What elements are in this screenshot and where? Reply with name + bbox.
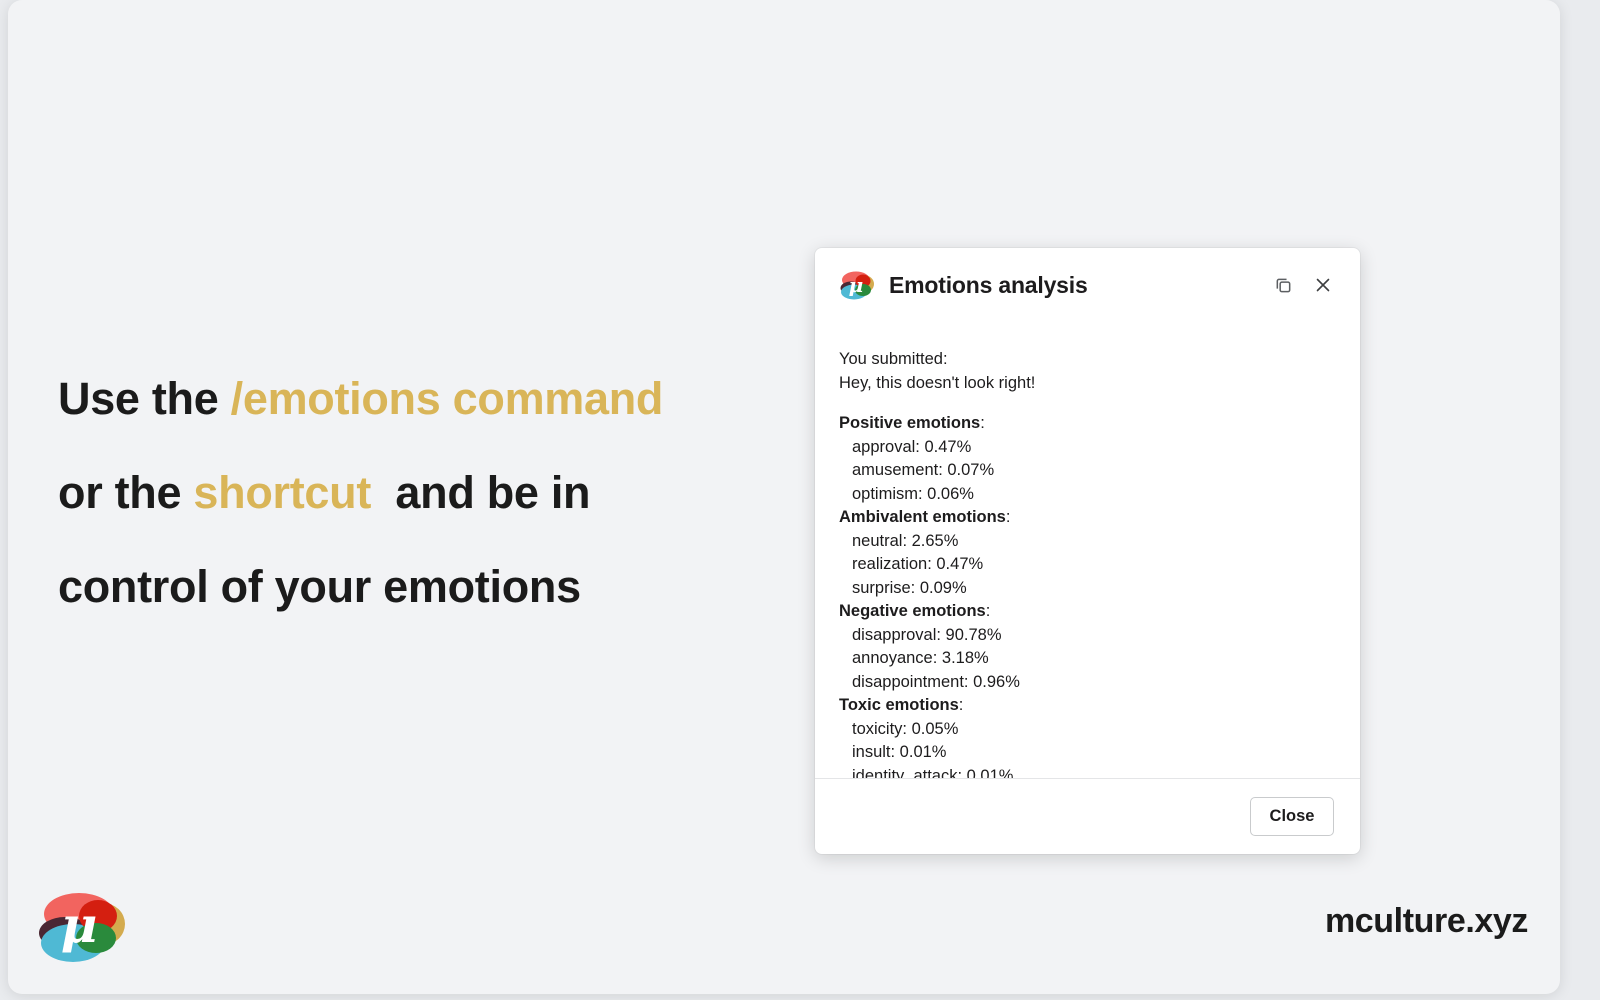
- svg-text:μ: μ: [849, 273, 864, 297]
- mculture-app-icon: μ: [839, 267, 875, 303]
- emotion-item: optimism: 0.06%: [839, 483, 1336, 507]
- emotion-item: identity_attack: 0.01%: [839, 765, 1336, 779]
- emotion-group: Negative emotions:disapproval: 90.78%ann…: [839, 600, 1336, 694]
- dialog-title: Emotions analysis: [889, 272, 1268, 299]
- headline-line-3: control of your emotions: [58, 540, 718, 634]
- emotion-item: amusement: 0.07%: [839, 459, 1336, 483]
- dialog-body: You submitted: Hey, this doesn't look ri…: [815, 322, 1360, 778]
- site-name: mculture.xyz: [1325, 902, 1528, 941]
- headline-text-2-1: or the: [58, 467, 193, 518]
- dialog-header: μ Emotions analysis: [815, 248, 1360, 322]
- headline-accent-2-2: shortcut: [193, 467, 371, 518]
- emotion-group-title: Toxic emotions:: [839, 694, 1336, 718]
- headline-line-2: or the shortcut and be in: [58, 446, 718, 540]
- emotion-item: insult: 0.01%: [839, 741, 1336, 765]
- dialog-footer: Close: [815, 778, 1360, 854]
- headline-text-2-3: and be in: [371, 467, 590, 518]
- submitted-label: You submitted:: [839, 348, 1336, 372]
- svg-text:μ: μ: [61, 895, 98, 954]
- submitted-text: Hey, this doesn't look right!: [839, 372, 1336, 396]
- emotion-item: realization: 0.47%: [839, 553, 1336, 577]
- emotion-item: approval: 0.47%: [839, 436, 1336, 460]
- headline-accent-1-2: /emotions command: [231, 373, 663, 424]
- slide-canvas: Use the /emotions commandor the shortcut…: [8, 0, 1560, 994]
- emotions-list: Positive emotions:approval: 0.47%amuseme…: [839, 412, 1336, 778]
- emotions-analysis-dialog: μ Emotions analysis You submitted: Hey, …: [815, 248, 1360, 854]
- emotion-item: surprise: 0.09%: [839, 577, 1336, 601]
- emotion-item: disappointment: 0.96%: [839, 671, 1336, 695]
- emotion-group: Positive emotions:approval: 0.47%amuseme…: [839, 412, 1336, 506]
- headline-text-3-1: control of your emotions: [58, 561, 581, 612]
- headline-text-1-1: Use the: [58, 373, 231, 424]
- close-button[interactable]: Close: [1250, 797, 1334, 836]
- emotion-group: Toxic emotions:toxicity: 0.05%insult: 0.…: [839, 694, 1336, 778]
- emotion-group-title: Negative emotions:: [839, 600, 1336, 624]
- emotion-group-title: Ambivalent emotions:: [839, 506, 1336, 530]
- emotion-group: Ambivalent emotions:neutral: 2.65%realiz…: [839, 506, 1336, 600]
- page-title: Use the /emotions commandor the shortcut…: [58, 352, 718, 634]
- emotion-item: disapproval: 90.78%: [839, 624, 1336, 648]
- emotion-item: annoyance: 3.18%: [839, 647, 1336, 671]
- copy-icon[interactable]: [1268, 270, 1298, 300]
- mculture-logo: μ: [33, 880, 129, 968]
- emotion-item: toxicity: 0.05%: [839, 718, 1336, 742]
- emotion-item: neutral: 2.65%: [839, 530, 1336, 554]
- submitted-block: You submitted: Hey, this doesn't look ri…: [839, 348, 1336, 395]
- emotion-group-title: Positive emotions:: [839, 412, 1336, 436]
- headline-line-1: Use the /emotions command: [58, 352, 718, 446]
- close-icon[interactable]: [1308, 270, 1338, 300]
